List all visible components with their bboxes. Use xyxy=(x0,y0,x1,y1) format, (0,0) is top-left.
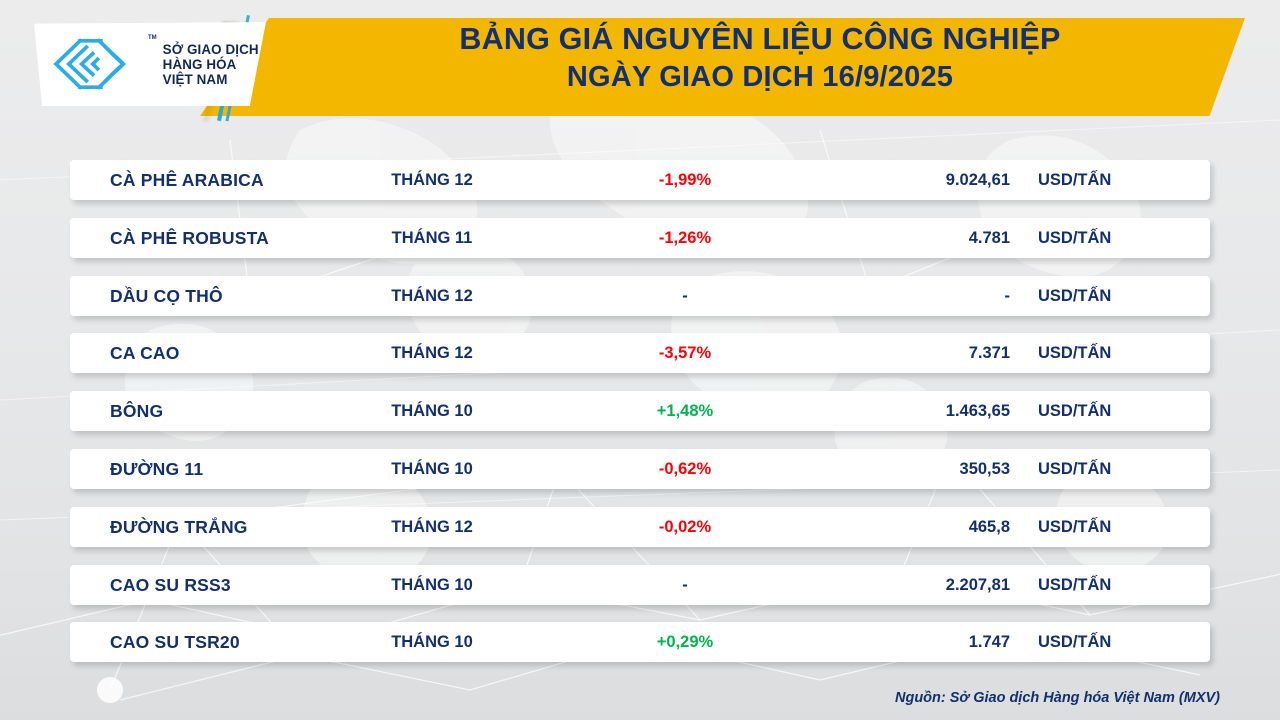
price-unit: USD/TẤN xyxy=(1038,507,1111,547)
price-unit: USD/TẤN xyxy=(1038,565,1111,605)
contract-month: THÁNG 10 xyxy=(332,565,532,605)
change-percent: -0,62% xyxy=(570,449,800,489)
header-banner: TM SỞ GIAO DỊCH HÀNG HÓA VIỆT NAM BẢNG G… xyxy=(0,0,1280,135)
contract-month: THÁNG 12 xyxy=(332,333,532,373)
title-secondary: NGÀY GIAO DỊCH 16/9/2025 xyxy=(330,61,1190,95)
contract-month: THÁNG 12 xyxy=(332,276,532,316)
price-unit: USD/TẤN xyxy=(1038,160,1111,200)
commodity-name: ĐƯỜNG TRẮNG xyxy=(110,507,248,547)
table-row[interactable]: CAO SU TSR20THÁNG 10+0,29%1.747USD/TẤN xyxy=(70,622,1210,662)
table-row[interactable]: ĐƯỜNG 11THÁNG 10-0,62%350,53USD/TẤN xyxy=(70,449,1210,489)
price-unit: USD/TẤN xyxy=(1038,449,1111,489)
price-value: 4.781 xyxy=(770,218,1010,258)
contract-month: THÁNG 11 xyxy=(332,218,532,258)
commodity-name: CA CAO xyxy=(110,333,180,373)
change-percent: -3,57% xyxy=(570,333,800,373)
price-value: 465,8 xyxy=(770,507,1010,547)
change-percent: +1,48% xyxy=(570,391,800,431)
price-value: 350,53 xyxy=(770,449,1010,489)
price-value: 1.463,65 xyxy=(770,391,1010,431)
change-percent: - xyxy=(570,276,800,316)
contract-month: THÁNG 10 xyxy=(332,622,532,662)
table-row[interactable]: CÀ PHÊ ROBUSTATHÁNG 11-1,26%4.781USD/TẤN xyxy=(70,218,1210,258)
table-row[interactable]: ĐƯỜNG TRẮNGTHÁNG 12-0,02%465,8USD/TẤN xyxy=(70,507,1210,547)
source-note: Nguồn: Sở Giao dịch Hàng hóa Việt Nam (M… xyxy=(895,690,1220,706)
price-value: - xyxy=(770,276,1010,316)
brand-logo[interactable]: TM SỞ GIAO DỊCH HÀNG HÓA VIỆT NAM xyxy=(48,27,258,101)
brand-line-2: HÀNG HÓA xyxy=(163,57,259,72)
commodity-name: BÔNG xyxy=(110,391,163,431)
table-row[interactable]: CÀ PHÊ ARABICATHÁNG 12-1,99%9.024,61USD/… xyxy=(70,160,1210,200)
price-value: 1.747 xyxy=(770,622,1010,662)
change-percent: -1,26% xyxy=(570,218,800,258)
contract-month: THÁNG 10 xyxy=(332,449,532,489)
price-value: 9.024,61 xyxy=(770,160,1010,200)
price-unit: USD/TẤN xyxy=(1038,622,1111,662)
table-row[interactable]: BÔNGTHÁNG 10+1,48%1.463,65USD/TẤN xyxy=(70,391,1210,431)
contract-month: THÁNG 12 xyxy=(332,160,532,200)
contract-month: THÁNG 10 xyxy=(332,391,532,431)
trademark-symbol: TM xyxy=(148,35,157,41)
commodity-name: CAO SU RSS3 xyxy=(110,565,231,605)
table-row[interactable]: DẦU CỌ THÔTHÁNG 12--USD/TẤN xyxy=(70,276,1210,316)
mxv-maze-logo-icon xyxy=(48,36,144,92)
commodity-name: DẦU CỌ THÔ xyxy=(110,276,223,316)
table-row[interactable]: CA CAOTHÁNG 12-3,57%7.371USD/TẤN xyxy=(70,333,1210,373)
price-table: CÀ PHÊ ARABICATHÁNG 12-1,99%9.024,61USD/… xyxy=(0,160,1280,662)
price-unit: USD/TẤN xyxy=(1038,218,1111,258)
commodity-name: CAO SU TSR20 xyxy=(110,622,240,662)
price-unit: USD/TẤN xyxy=(1038,333,1111,373)
change-percent: +0,29% xyxy=(570,622,800,662)
price-unit: USD/TẤN xyxy=(1038,391,1111,431)
change-percent: -1,99% xyxy=(570,160,800,200)
price-value: 7.371 xyxy=(770,333,1010,373)
price-unit: USD/TẤN xyxy=(1038,276,1111,316)
commodity-name: ĐƯỜNG 11 xyxy=(110,449,203,489)
change-percent: -0,02% xyxy=(570,507,800,547)
change-percent: - xyxy=(570,565,800,605)
title-primary: BẢNG GIÁ NGUYÊN LIỆU CÔNG NGHIỆP xyxy=(330,22,1190,57)
contract-month: THÁNG 12 xyxy=(332,507,532,547)
commodity-name: CÀ PHÊ ARABICA xyxy=(110,160,264,200)
brand-line-1: SỞ GIAO DỊCH xyxy=(163,42,259,57)
brand-wordmark: SỞ GIAO DỊCH HÀNG HÓA VIỆT NAM xyxy=(163,42,259,87)
page-title: BẢNG GIÁ NGUYÊN LIỆU CÔNG NGHIỆP NGÀY GI… xyxy=(330,22,1190,95)
table-row[interactable]: CAO SU RSS3THÁNG 10-2.207,81USD/TẤN xyxy=(70,565,1210,605)
brand-line-3: VIỆT NAM xyxy=(163,72,259,87)
price-value: 2.207,81 xyxy=(770,565,1010,605)
commodity-name: CÀ PHÊ ROBUSTA xyxy=(110,218,269,258)
